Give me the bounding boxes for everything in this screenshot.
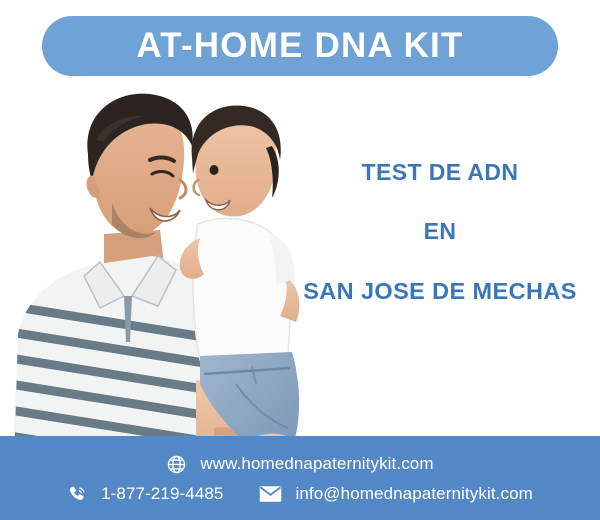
banner-title: AT-HOME DNA KIT	[136, 26, 463, 66]
website-label: www.homednapaternitykit.com	[200, 454, 433, 474]
envelope-icon	[259, 484, 282, 504]
father-and-child-illustration	[0, 84, 330, 468]
headline-line-2: EN	[288, 219, 592, 244]
phone-icon	[67, 484, 88, 505]
promo-card: AT-HOME DNA KIT	[0, 0, 600, 520]
footer-row-phone-email: 1-877-219-4485 info@homednapaternitykit.…	[67, 484, 533, 505]
globe-icon	[166, 454, 187, 475]
phone-contact[interactable]: 1-877-219-4485	[67, 484, 223, 505]
phone-label: 1-877-219-4485	[101, 484, 223, 504]
headline-block: TEST DE ADN EN SAN JOSE DE MECHAS	[288, 160, 592, 304]
footer-row-website: www.homednapaternitykit.com	[166, 454, 433, 475]
header-banner: AT-HOME DNA KIT	[42, 16, 558, 76]
website-contact[interactable]: www.homednapaternitykit.com	[166, 454, 433, 475]
hero-photo	[0, 84, 330, 468]
headline-line-3: SAN JOSE DE MECHAS	[288, 279, 592, 305]
headline-line-1: TEST DE ADN	[288, 160, 592, 185]
email-label: info@homednapaternitykit.com	[295, 484, 532, 504]
contact-footer: www.homednapaternitykit.com 1-877-219-44…	[0, 436, 600, 520]
email-contact[interactable]: info@homednapaternitykit.com	[259, 484, 532, 504]
